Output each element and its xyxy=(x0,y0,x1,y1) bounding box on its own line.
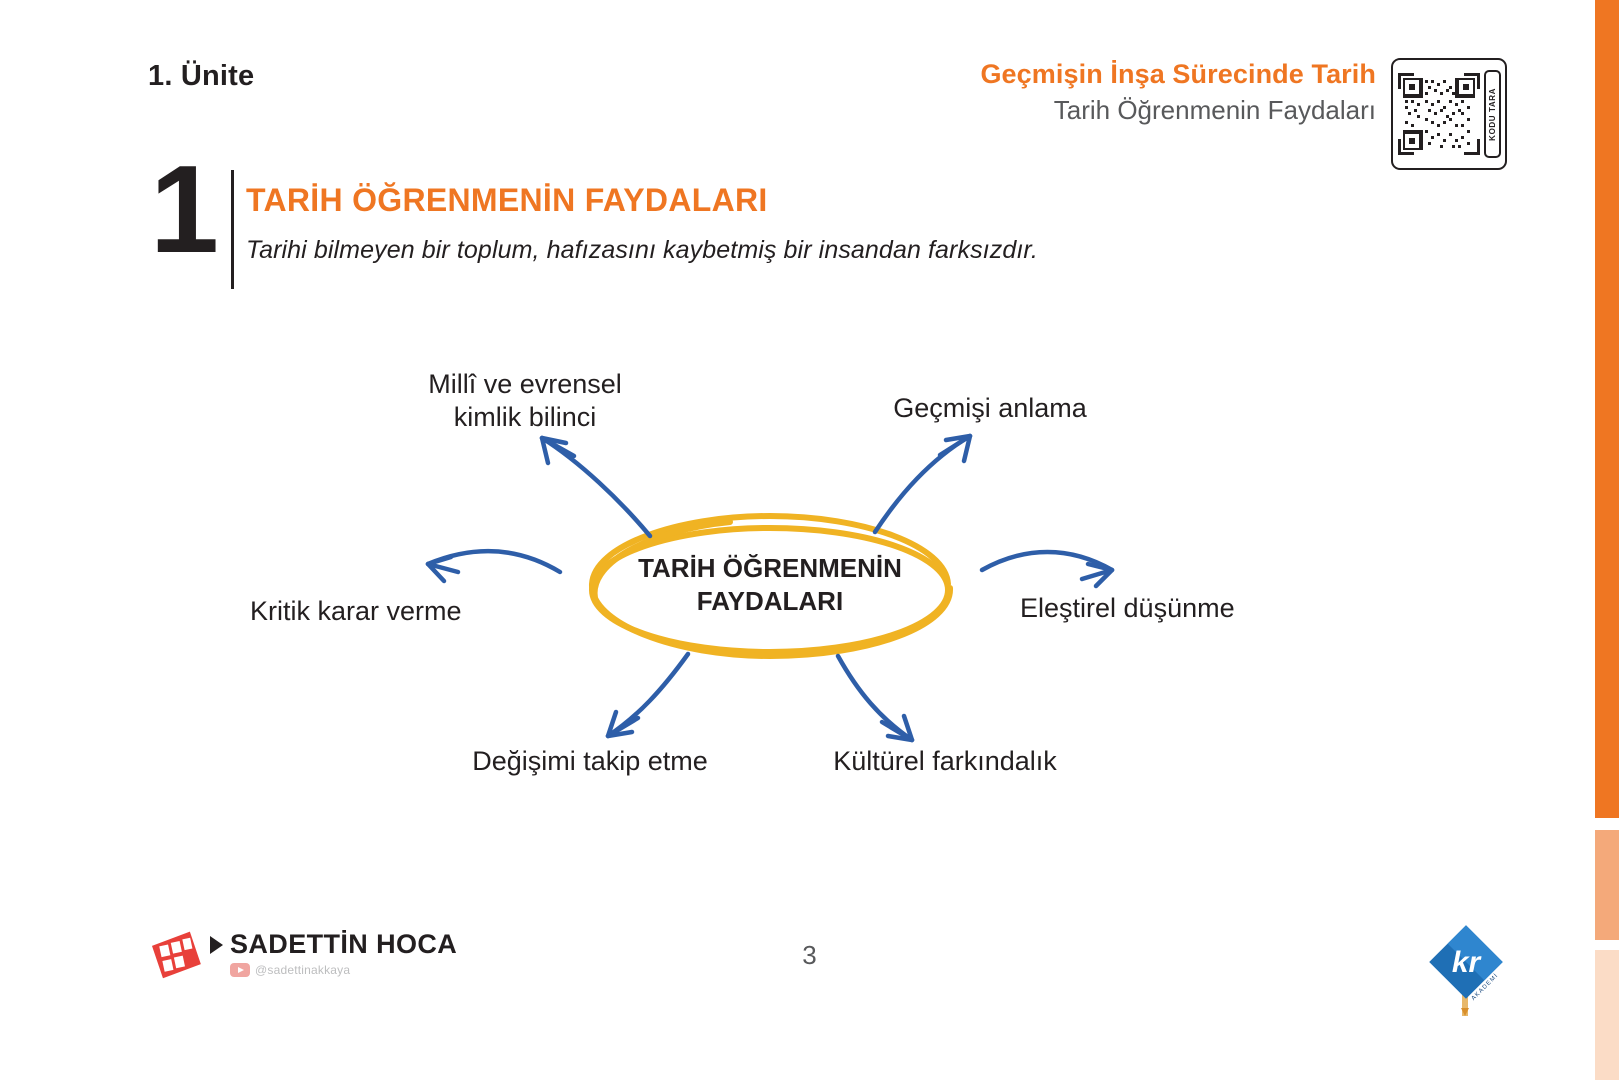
header-title-block: Geçmişin İnşa Sürecinde Tarih Tarih Öğre… xyxy=(820,58,1376,128)
title-divider xyxy=(231,170,234,289)
brand-text-wrap: SADETTİN HOCA @sadettinakkaya xyxy=(210,929,457,977)
sadettin-hoca-logo-icon xyxy=(148,925,204,981)
qr-code-icon xyxy=(1397,72,1481,156)
brand-name: SADETTİN HOCA xyxy=(230,929,457,960)
section-subtitle: Tarihi bilmeyen bir toplum, hafızasını k… xyxy=(246,236,1038,265)
page-number: 3 xyxy=(802,940,816,971)
diagram-node-kritik: Kritik karar verme xyxy=(250,595,510,628)
section-number: 1 xyxy=(150,148,217,272)
header-title-sub: Tarih Öğrenmenin Faydaları xyxy=(820,94,1376,128)
diagram-center-label: TARİH ÖĞRENMENİN FAYDALARI xyxy=(605,552,935,617)
qr-scan-badge[interactable]: KODU TARA xyxy=(1391,58,1507,170)
diagram-node-kultur: Kültürel farkındalık xyxy=(800,745,1090,778)
header-title-main: Geçmişin İnşa Sürecinde Tarih xyxy=(820,58,1376,92)
brand-name-row: SADETTİN HOCA xyxy=(210,929,457,960)
diagram-node-milli: Millî ve evrensel kimlik bilinci xyxy=(400,368,650,434)
page-title: TARİH ÖĞRENMENİN FAYDALARI xyxy=(246,182,768,219)
svg-text:kr: kr xyxy=(1452,946,1483,979)
mind-map-diagram: .arw { fill: none; stroke: #2e5ea8; stro… xyxy=(230,340,1360,840)
edge-accent-bar-tertiary xyxy=(1595,950,1619,1080)
slide-canvas: 1. Ünite Geçmişin İnşa Sürecinde Tarih T… xyxy=(0,0,1619,1080)
brand-logo: SADETTİN HOCA @sadettinakkaya xyxy=(148,922,457,984)
brand-handle: @sadettinakkaya xyxy=(255,963,350,977)
qr-scan-label: KODU TARA xyxy=(1484,70,1501,158)
youtube-icon xyxy=(230,963,250,977)
qr-scan-label-text: KODU TARA xyxy=(1488,88,1497,141)
diagram-node-gecmisi: Geçmişi anlama xyxy=(865,392,1115,425)
brand-handle-row: @sadettinakkaya xyxy=(230,963,457,977)
kr-akademi-logo-icon: kr AKADEMİ xyxy=(1418,918,1514,1018)
unit-label: 1. Ünite xyxy=(148,60,254,93)
diagram-node-elestirel: Eleştirel düşünme xyxy=(1020,592,1300,625)
edge-accent-bar-primary xyxy=(1595,0,1619,818)
edge-accent-bar-secondary xyxy=(1595,830,1619,940)
diagram-node-degisim: Değişimi takip etme xyxy=(445,745,735,778)
play-triangle-icon xyxy=(210,936,223,954)
